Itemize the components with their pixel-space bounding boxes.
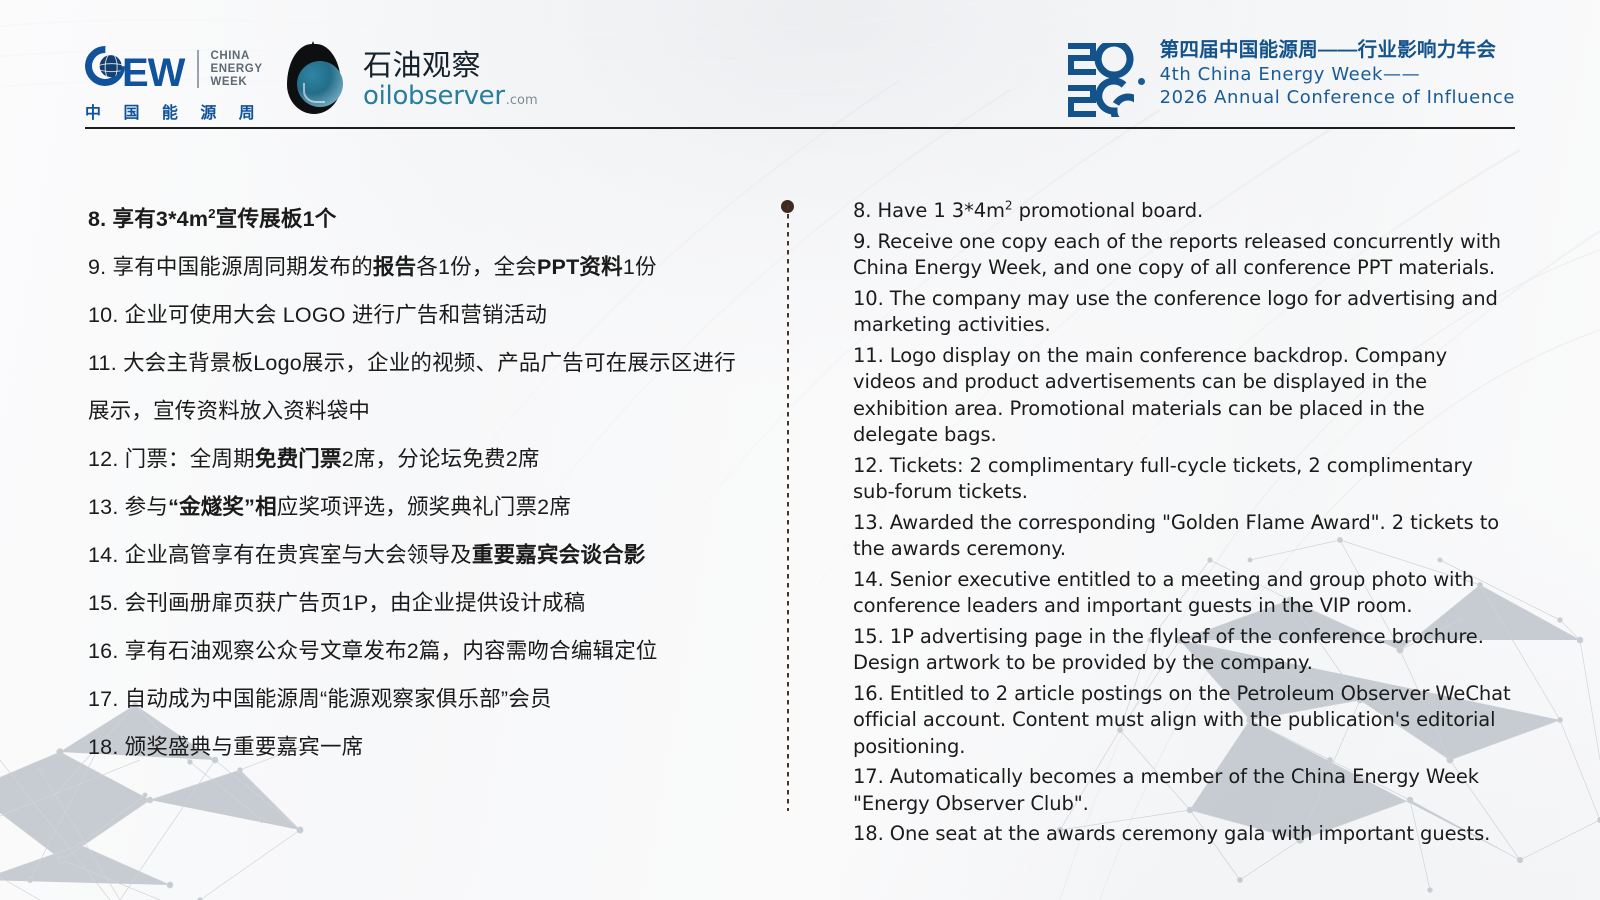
slide-canvas: EW CHINA ENERGY WEEK 中 国 能 源 周: [0, 0, 1600, 900]
chinese-list-item: 11. 大会主背景板Logo展示，企业的视频、产品广告可在展示区进行展示，宣传资…: [88, 339, 748, 435]
cew-wordmark: EW: [85, 46, 184, 92]
year-2026-stylized-mark: [1068, 43, 1134, 117]
slide-body: 8. 享有3*4m2宣传展板1个9. 享有中国能源周同期发布的报告各1份，全会P…: [0, 150, 1600, 870]
english-list-item: 17. Automatically becomes a member of th…: [853, 764, 1515, 817]
chinese-list-item: 13. 参与“金燧奖”相应奖项评选，颁奖典礼门票2席: [88, 483, 748, 531]
cew-english-name: CHINA ENERGY WEEK: [210, 50, 262, 89]
english-benefits-list: 8. Have 1 3*4m2 promotional board.9. Rec…: [853, 198, 1515, 852]
conference-title-english-line-1: 4th China Energy Week——: [1160, 63, 1515, 86]
oil-drop-icon: [283, 44, 349, 116]
oilobserver-english-name: oilobserver: [363, 83, 505, 110]
english-list-item: 18. One seat at the awards ceremony gala…: [853, 821, 1515, 848]
chinese-list-item: 17. 自动成为中国能源周“能源观察家俱乐部”会员: [88, 675, 748, 723]
conference-logo-dot-icon: [1138, 78, 1145, 85]
slide-header: EW CHINA ENERGY WEEK 中 国 能 源 周: [85, 24, 1515, 129]
english-list-item: 16. Entitled to 2 article postings on th…: [853, 681, 1515, 761]
english-list-item: 9. Receive one copy each of the reports …: [853, 229, 1515, 282]
column-divider-dotted-line: [787, 205, 789, 811]
cew-chinese-name: 中 国 能 源 周: [85, 99, 264, 123]
cew-logo: EW CHINA ENERGY WEEK 中 国 能 源 周: [85, 46, 264, 123]
english-list-item: 11. Logo display on the main conference …: [853, 343, 1515, 449]
header-horizontal-rule: [85, 127, 1515, 129]
chinese-list-item: 18. 颁奖盛典与重要嘉宾一席: [88, 723, 748, 771]
chinese-benefits-list: 8. 享有3*4m2宣传展板1个9. 享有中国能源周同期发布的报告各1份，全会P…: [88, 195, 748, 771]
english-list-item: 8. Have 1 3*4m2 promotional board.: [853, 198, 1515, 225]
chinese-list-item: 12. 门票：全周期免费门票2席，分论坛免费2席: [88, 435, 748, 483]
cew-ew-letters: EW: [122, 54, 184, 92]
chinese-list-item: 15. 会刊画册扉页获广告页1P，由企业提供设计成稿: [88, 579, 748, 627]
english-list-item: 14. Senior executive entitled to a meeti…: [853, 567, 1515, 620]
conference-title-english-line-2: 2026 Annual Conference of Influence: [1160, 86, 1515, 109]
chinese-list-item: 14. 企业高管享有在贵宾室与大会领导及重要嘉宾会谈合影: [88, 531, 748, 579]
cew-logo-divider: [197, 50, 199, 88]
chinese-list-item: 16. 享有石油观察公众号文章发布2篇，内容需吻合编辑定位: [88, 627, 748, 675]
english-list-item: 13. Awarded the corresponding "Golden Fl…: [853, 510, 1515, 563]
english-list-item: 15. 1P advertising page in the flyleaf o…: [853, 624, 1515, 677]
english-list-item: 10. The company may use the conference l…: [853, 286, 1515, 339]
english-list-item: 12. Tickets: 2 complimentary full-cycle …: [853, 453, 1515, 506]
chinese-list-item: 8. 享有3*4m2宣传展板1个: [88, 195, 748, 243]
oilobserver-logo: 石油观察 oilobserver .com: [283, 44, 538, 116]
cew-english-line-1: CHINA: [210, 50, 262, 63]
chinese-list-item: 9. 享有中国能源周同期发布的报告各1份，全会PPT资料1份: [88, 243, 748, 291]
conference-title-chinese: 第四届中国能源周——行业影响力年会: [1160, 38, 1515, 63]
chinese-list-item: 10. 企业可使用大会 LOGO 进行广告和营销活动: [88, 291, 748, 339]
globe-icon: [100, 55, 122, 77]
oilobserver-domain-suffix: .com: [506, 93, 538, 108]
conference-logo: 第四届中国能源周——行业影响力年会 4th China Energy Week—…: [1068, 38, 1515, 117]
cew-english-line-3: WEEK: [210, 76, 262, 89]
cew-english-line-2: ENERGY: [210, 63, 262, 76]
oilobserver-chinese-name: 石油观察: [363, 50, 538, 82]
